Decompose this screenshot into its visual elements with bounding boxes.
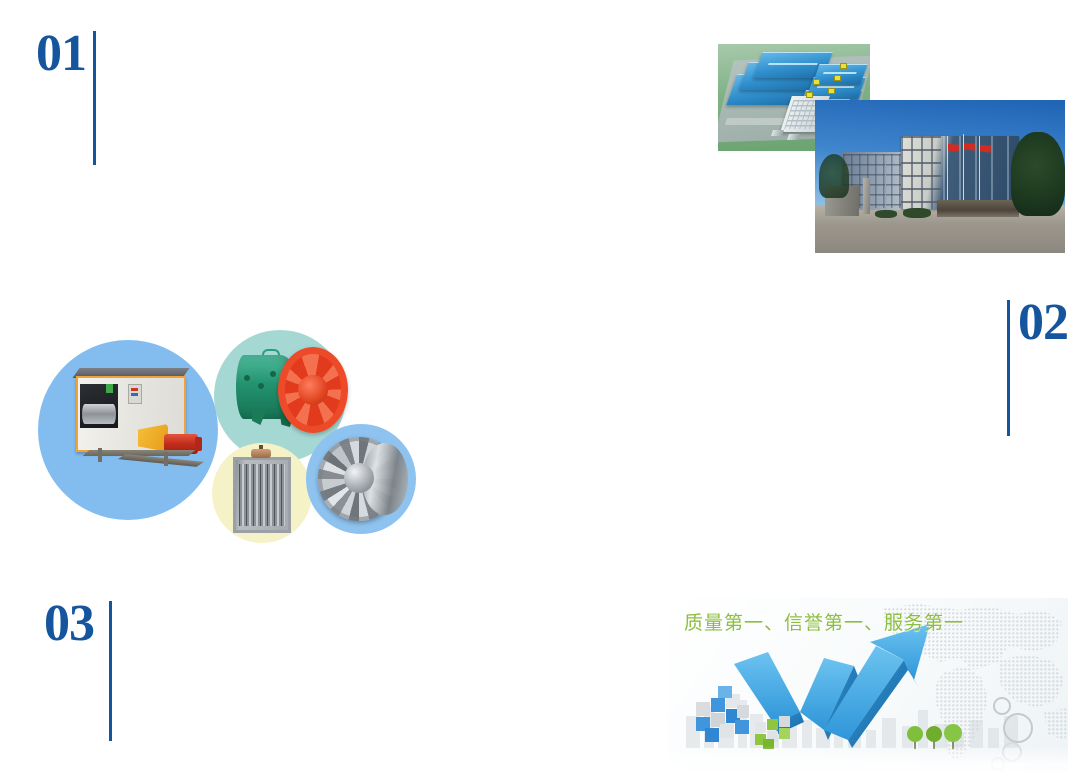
photo-tree [819, 154, 849, 198]
photo-gate-post [863, 178, 870, 214]
tree-icons-graphic [906, 716, 964, 750]
render-truck [787, 134, 800, 140]
photo-bush [903, 208, 931, 218]
photo-tree [1011, 132, 1065, 216]
flagpole [947, 136, 948, 200]
fan-impeller-image [318, 437, 410, 523]
section-number-03: 03 [44, 598, 94, 650]
render-truck [771, 130, 784, 136]
section-rule-01 [93, 31, 96, 165]
banner-reflection [668, 746, 1068, 772]
axial-flow-fan-image [236, 345, 348, 445]
cabinet-label [106, 384, 113, 393]
slogan-banner-image: 质量第一、信誉第一、服务第一 [668, 598, 1068, 772]
render-marker [806, 92, 813, 98]
cabinet-fan-unit-image [60, 358, 206, 503]
section-rule-03 [109, 601, 112, 741]
fan-hub [298, 375, 328, 405]
cabinet-control-panel [128, 384, 142, 404]
slogan-text: 质量第一、信誉第一、服务第一 [684, 608, 964, 635]
green-cube-cluster-graphic [754, 710, 794, 750]
blue-cube-cluster-graphic [694, 680, 758, 744]
render-marker [813, 79, 820, 85]
cabinet-leg [98, 448, 102, 462]
damper-blades [239, 464, 285, 526]
air-damper-valve-image [233, 457, 291, 533]
photo-bush [875, 210, 897, 218]
section-number-01: 01 [36, 28, 86, 80]
cabinet-fan-wheel [82, 404, 116, 424]
office-building-photo-image [815, 100, 1065, 253]
photo-boundary-wall [937, 200, 1019, 217]
impeller-hub [344, 463, 374, 493]
render-marker [834, 75, 841, 81]
flagpole [963, 134, 964, 200]
page-root: 01 [0, 0, 1074, 772]
render-marker [828, 88, 835, 94]
flagpole [979, 136, 980, 200]
damper-actuator [251, 449, 271, 458]
photo-main-building [901, 136, 1019, 209]
render-marker [840, 63, 847, 69]
cabinet-base-frame [118, 454, 204, 467]
cabinet-leg [164, 452, 168, 466]
section-number-02: 02 [1018, 297, 1068, 349]
utility-pole [885, 160, 886, 212]
section-rule-02 [1007, 300, 1010, 436]
